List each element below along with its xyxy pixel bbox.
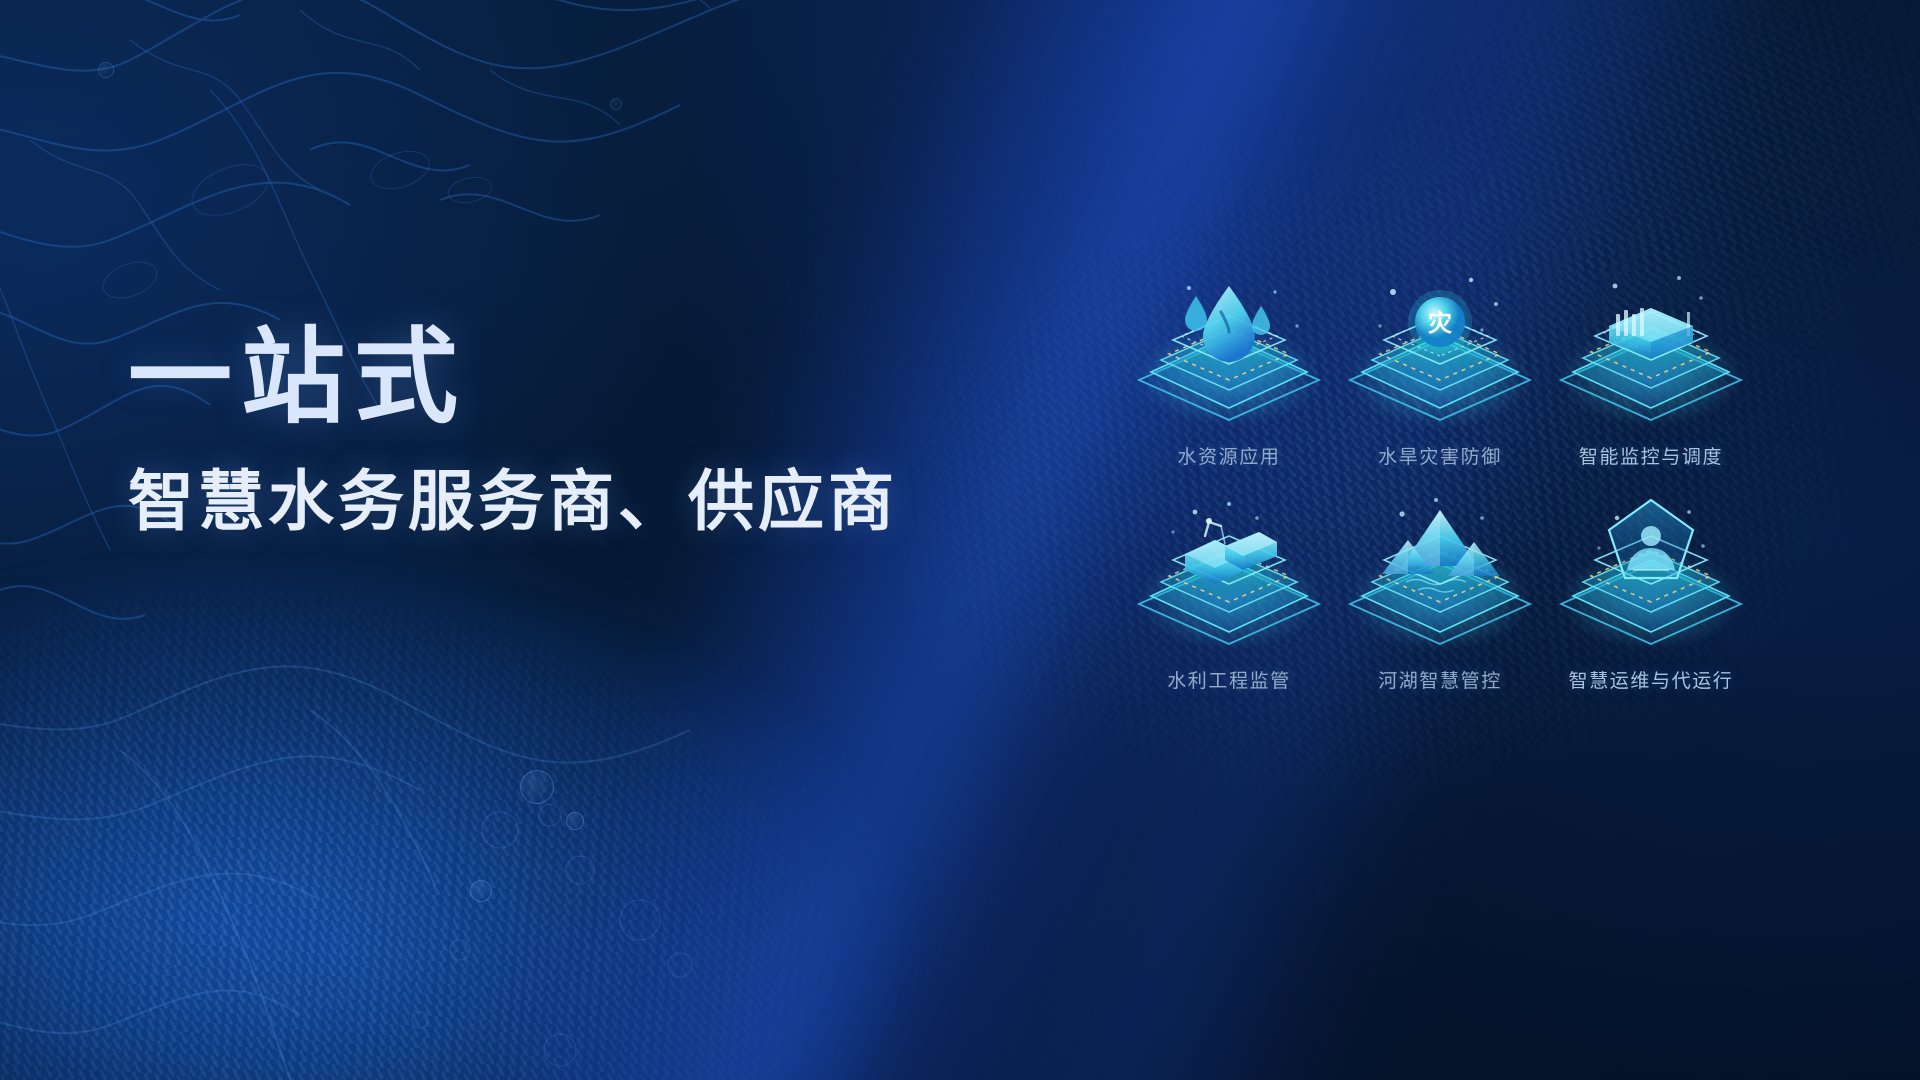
slide-canvas: 一站式 智慧水务服务商、供应商: [0, 0, 1920, 1080]
service-item-smart-ops[interactable]: 智慧运维与代运行: [1547, 492, 1755, 716]
service-item-label: 河湖智慧管控: [1378, 666, 1502, 693]
bubble-decoration: [520, 770, 554, 804]
mountain-river-icon: [1336, 492, 1544, 662]
page-title-main: 一站式: [128, 326, 898, 430]
service-icon-grid: 水资源应用: [1125, 268, 1755, 716]
service-item-label: 水旱灾害防御: [1378, 442, 1502, 469]
bubble-decoration: [470, 880, 492, 902]
service-item-flood-drought[interactable]: 灾 水旱灾害防御: [1336, 268, 1544, 492]
bubble-decoration: [98, 62, 114, 78]
page-title-subtitle: 智慧水务服务商、供应商: [128, 468, 898, 534]
service-item-label: 智能监控与调度: [1579, 442, 1723, 469]
bubble-decoration: [610, 98, 622, 110]
disaster-sphere-icon: 灾: [1336, 268, 1544, 438]
service-item-label: 水利工程监管: [1167, 666, 1291, 693]
shield-operator-icon: [1547, 492, 1755, 662]
dam-facility-icon: [1547, 268, 1755, 438]
water-drop-icon: [1125, 268, 1333, 438]
bubble-decoration: [566, 812, 584, 830]
sluice-gate-icon: [1125, 492, 1333, 662]
water-texture-bottom-left: [0, 620, 740, 1080]
service-item-water-resource[interactable]: 水资源应用: [1125, 268, 1333, 492]
service-item-hydro-engineering[interactable]: 水利工程监管: [1125, 492, 1333, 716]
service-item-label: 水资源应用: [1177, 442, 1280, 469]
service-item-label: 智慧运维与代运行: [1569, 666, 1734, 693]
service-item-river-lake[interactable]: 河湖智慧管控: [1336, 492, 1544, 716]
disaster-glyph: 灾: [1428, 309, 1452, 337]
service-item-smart-monitor[interactable]: 智能监控与调度: [1547, 268, 1755, 492]
headline-block: 一站式 智慧水务服务商、供应商: [128, 326, 898, 534]
